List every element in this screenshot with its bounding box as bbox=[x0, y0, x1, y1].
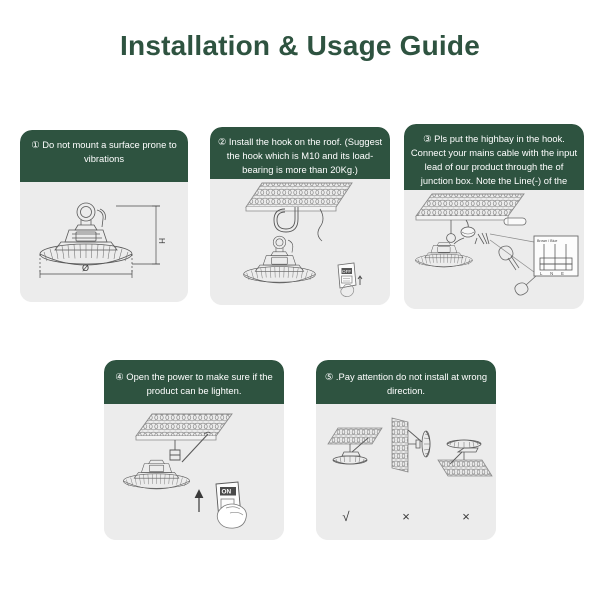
orientation-wall bbox=[392, 418, 430, 472]
installation-guide-page: Installation & Usage Guide ① Do not moun… bbox=[0, 0, 600, 600]
terminal-pins-label: L N E bbox=[540, 271, 567, 276]
step-2-diagram: OFF bbox=[210, 179, 390, 305]
roof-slab bbox=[136, 414, 232, 440]
switch-box-on: ON bbox=[216, 482, 246, 528]
switch-off-label: OFF bbox=[342, 269, 351, 274]
roof-slab bbox=[416, 194, 524, 220]
wire-strands bbox=[475, 233, 489, 244]
step-4-diagram: ON bbox=[104, 404, 284, 540]
height-label: H bbox=[157, 238, 166, 244]
step-1-diagram: H Ø bbox=[20, 182, 188, 302]
screwdriver-icon-1 bbox=[499, 246, 519, 270]
screwdriver-icon-2 bbox=[515, 276, 536, 295]
mark-wrong-wall: × bbox=[376, 509, 435, 524]
orientation-inverted bbox=[438, 440, 492, 476]
mark-wrong-inverted: × bbox=[436, 509, 495, 524]
junction-box bbox=[461, 227, 475, 237]
step-card-2: ② Install the hook on the roof. (Suggest… bbox=[210, 127, 390, 305]
step-1-header-text: ① Do not mount a surface prone to vibrat… bbox=[20, 130, 188, 182]
highbay-dimensions-drawing: H Ø bbox=[20, 182, 188, 302]
step-5-diagram: √ × × bbox=[316, 404, 496, 540]
wiring-junction-box-drawing: Brown / Blue L N E bbox=[404, 190, 584, 309]
step-5-header-text: ⑤ .Pay attention do not install at wrong… bbox=[316, 360, 496, 404]
roof-slab bbox=[246, 183, 352, 211]
terminal-header-label: Brown / Blue bbox=[537, 239, 557, 243]
hook-on-roof-drawing: OFF bbox=[210, 179, 390, 305]
orientation-correct bbox=[328, 428, 382, 464]
up-arrow-icon bbox=[195, 490, 203, 512]
diameter-label: Ø bbox=[82, 263, 89, 273]
step-card-3: ③ Pls put the highbay in the hook. Conne… bbox=[404, 124, 584, 309]
switch-on-label: ON bbox=[222, 489, 232, 496]
mark-correct: √ bbox=[316, 509, 375, 524]
step-card-1: ① Do not mount a surface prone to vibrat… bbox=[20, 130, 188, 302]
switch-box-off: OFF bbox=[338, 263, 362, 297]
terminal-block-detail: Brown / Blue L N E bbox=[534, 236, 578, 276]
step-3-header-text: ③ Pls put the highbay in the hook. Conne… bbox=[404, 124, 584, 190]
step-card-5: ⑤ .Pay attention do not install at wrong… bbox=[316, 360, 496, 540]
cable-sleeve bbox=[504, 218, 526, 225]
step-3-diagram: Brown / Blue L N E bbox=[404, 190, 584, 309]
page-title: Installation & Usage Guide bbox=[0, 30, 600, 62]
step-2-header-text: ② Install the hook on the roof. (Suggest… bbox=[210, 127, 390, 179]
step-4-header-text: ④ Open the power to make sure if the pro… bbox=[104, 360, 284, 404]
orientation-marks: √ × × bbox=[316, 509, 496, 524]
power-on-switch-drawing: ON bbox=[104, 404, 284, 540]
step-card-4: ④ Open the power to make sure if the pro… bbox=[104, 360, 284, 540]
